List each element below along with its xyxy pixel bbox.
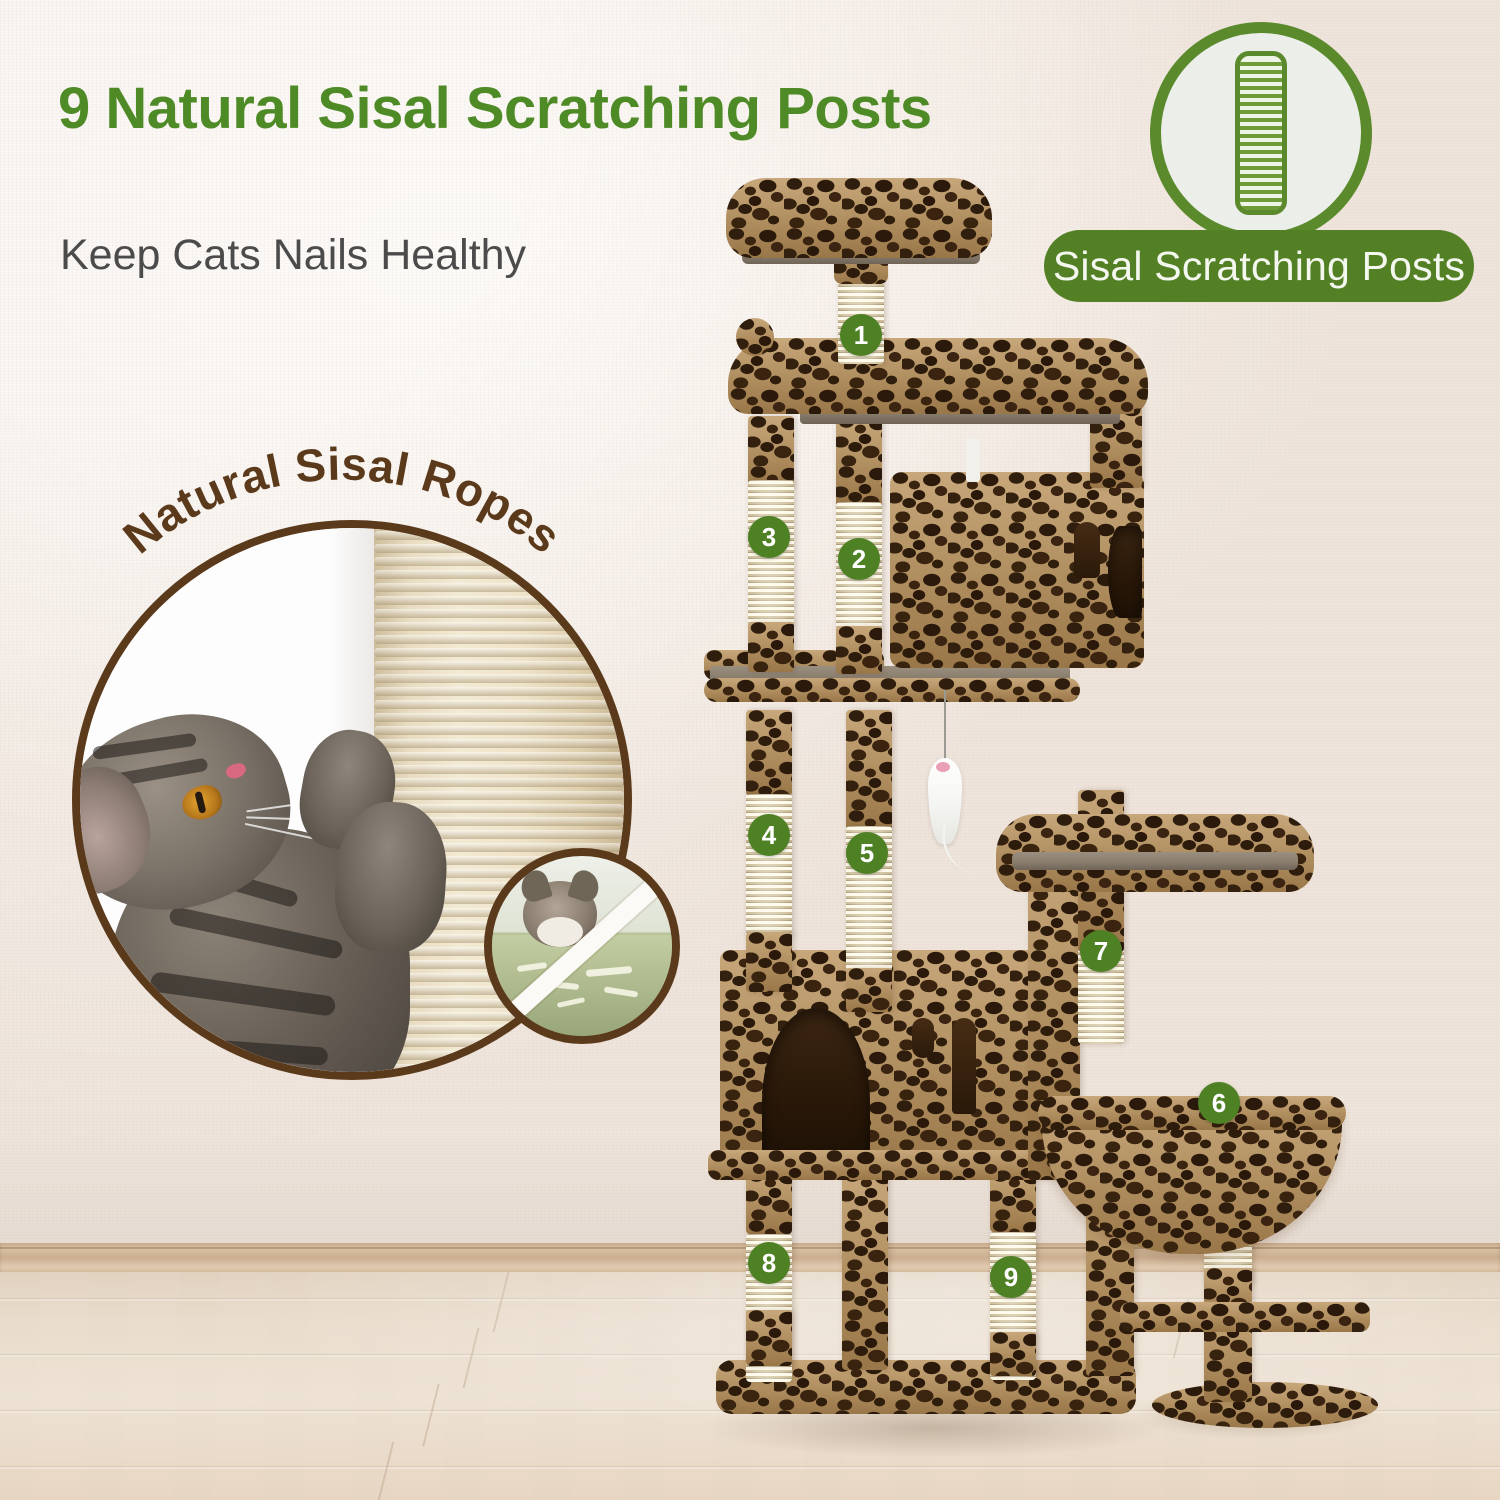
cat-tree-product: 1 2 3 4 5 6 7 8 9 — [690, 150, 1330, 1450]
condo-upper-window — [1074, 522, 1100, 578]
perch-right-surface — [1012, 852, 1298, 870]
post-3-upper-wrap — [748, 416, 794, 488]
callout-8-label: 8 — [762, 1248, 776, 1279]
callout-9-label: 9 — [1004, 1262, 1018, 1293]
callout-5-label: 5 — [860, 838, 874, 869]
condo-lower-window-right — [952, 1018, 976, 1114]
post-3-lower-wrap — [748, 622, 794, 672]
post-2-lower-wrap — [836, 626, 882, 674]
post-9-foot-wrap — [990, 1332, 1036, 1376]
post-5-upper-wrap — [846, 710, 892, 830]
sisal-rope-inset: Natural Sisal Ropes — [52, 430, 632, 1090]
perch-second-ball — [736, 318, 774, 356]
page-title: 9 Natural Sisal Scratching Posts — [58, 78, 978, 141]
perch-second-rim — [728, 338, 1148, 414]
condo-upper-door — [1108, 526, 1142, 618]
callout-4: 4 — [748, 814, 790, 856]
callout-1: 1 — [840, 314, 882, 356]
callout-2-label: 2 — [852, 544, 866, 575]
base-platform-right — [1152, 1382, 1378, 1428]
post-4-upper-wrap — [746, 710, 792, 796]
post-support-center-left — [842, 1170, 888, 1370]
callout-1-label: 1 — [854, 320, 868, 351]
post-2-upper-wrap — [836, 416, 882, 508]
no-scratching-sofa-photo — [484, 848, 680, 1044]
condo-lower-window-left — [912, 1018, 934, 1058]
condo-hang-tab — [966, 438, 980, 482]
kitten-illustration — [72, 678, 480, 1080]
top-perch-cushion — [726, 178, 992, 258]
post-8-foot-wrap — [746, 1310, 792, 1366]
callout-5: 5 — [846, 832, 888, 874]
post-5-lower-wrap — [846, 968, 892, 1012]
toy-tail — [937, 823, 986, 875]
post-4-lower-wrap — [746, 932, 792, 992]
shelf-middle-front-lip — [704, 678, 1080, 702]
callout-4-label: 4 — [762, 820, 776, 851]
shelf-right-low — [1120, 1302, 1370, 1332]
callout-6: 6 — [1198, 1082, 1240, 1124]
callout-7: 7 — [1080, 930, 1122, 972]
callout-7-label: 7 — [1094, 936, 1108, 967]
callout-3: 3 — [748, 516, 790, 558]
callout-2: 2 — [838, 538, 880, 580]
callout-6-label: 6 — [1212, 1088, 1226, 1119]
product-feature-graphic: 9 Natural Sisal Scratching Posts Keep Ca… — [0, 0, 1500, 1500]
callout-8: 8 — [748, 1242, 790, 1284]
callout-3-label: 3 — [762, 522, 776, 553]
hammock-rim — [1038, 1096, 1346, 1130]
condo-upper-body — [890, 472, 1144, 668]
callout-9: 9 — [990, 1256, 1032, 1298]
